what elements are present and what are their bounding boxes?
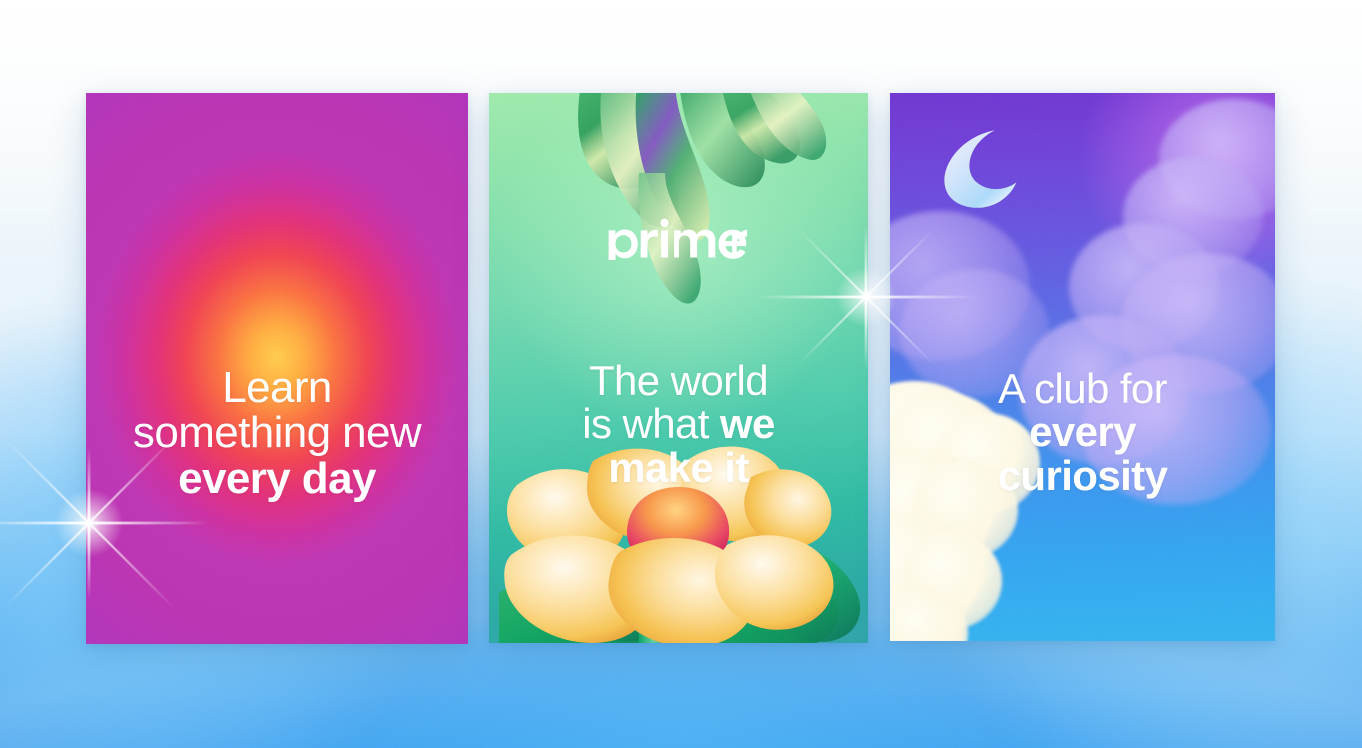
poster1-headline: Learn something new every day (86, 365, 468, 501)
poster2-primer-logo (489, 218, 868, 260)
poster3-headline-line-2: every (890, 410, 1275, 453)
poster1-headline-line-3: every day (86, 456, 468, 501)
poster3-headline-line-3: curiosity (890, 454, 1275, 497)
poster2-headline-seg-a: is what (582, 400, 720, 447)
poster-learn-something-new[interactable]: Learn something new every day (86, 93, 468, 644)
poster-the-world-is-what-we-make-it[interactable]: The world is what we make it (489, 93, 868, 643)
poster2-headline-line-1: The world (489, 359, 868, 402)
poster1-headline-line-1: Learn (86, 365, 468, 410)
poster2-headline-seg-b: we (720, 400, 775, 447)
poster2-headline-line-3: make it (489, 446, 868, 489)
poster3-headline-line-1: A club for (890, 367, 1275, 410)
poster3-headline: A club for every curiosity (890, 367, 1275, 497)
primer-wordmark-icon (605, 218, 753, 260)
poster2-headline: The world is what we make it (489, 359, 868, 489)
poster2-headline-line-2: is what we (489, 402, 868, 445)
poster-series-canvas: Learn something new every day (0, 0, 1362, 748)
crescent-moon-icon (930, 123, 1020, 213)
poster-a-club-for-every-curiosity[interactable]: A club for every curiosity (890, 93, 1275, 641)
poster1-headline-line-2: something new (86, 410, 468, 455)
